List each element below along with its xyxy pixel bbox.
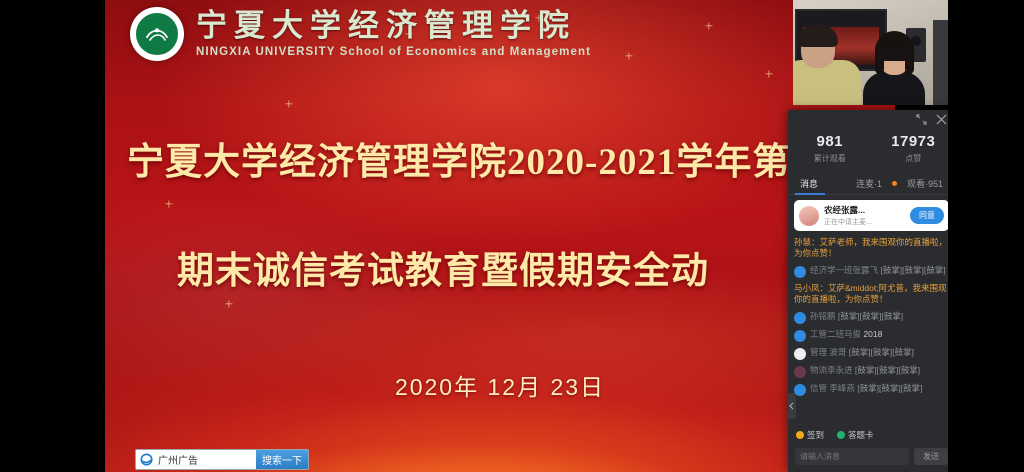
close-icon[interactable] (936, 114, 947, 125)
slide-date: 2020年 12月 23日 (105, 368, 895, 402)
stat-likes-value: 17973 (872, 133, 956, 150)
chat-message-text: [鼓掌][鼓掌][鼓掌] (880, 265, 945, 275)
chat-message: 经济学一班张露飞 [鼓掌][鼓掌][鼓掌] (794, 265, 949, 278)
chat-area[interactable]: 农经张露... 正在中请主麦... 同意 孙慧：艾萨老师，我来围观你的直播啦，为… (788, 195, 955, 423)
search-button[interactable]: 搜索一下 (256, 450, 308, 469)
live-indicator-dot (892, 181, 897, 186)
tab-messages[interactable]: 消息 (794, 177, 824, 190)
webcam-person-right-glasses (880, 50, 909, 58)
mic-request-name: 农经张露... (824, 204, 905, 216)
chat-message-author: 经济学一班张露飞 (810, 265, 878, 275)
chat-message-text: [鼓掌][鼓掌][鼓掌] (849, 347, 914, 357)
minimize-icon[interactable] (916, 114, 927, 125)
stat-views-value: 981 (788, 133, 872, 150)
university-logo: 宁夏大学经济管理学院 NINGXIA UNIVERSITY School of … (130, 7, 591, 61)
user-avatar (794, 312, 806, 324)
letterbox-right (948, 0, 1024, 472)
internet-explorer-icon (136, 450, 156, 469)
chat-message: 工管二班马俊 2018 (794, 329, 949, 342)
chat-message-text: [鼓掌][鼓掌][鼓掌] (857, 383, 922, 393)
chat-message-author: 工管二班马俊 (810, 329, 861, 339)
panel-header (788, 110, 955, 128)
quiz-card-icon (837, 431, 845, 439)
sparkle-decoration (705, 22, 712, 29)
message-list: 孙慧：艾萨老师，我来围观你的直播啦，为你点赞！ 经济学一班张露飞 [鼓掌][鼓掌… (794, 237, 949, 396)
mic-request-status: 正在中请主麦... (824, 217, 905, 227)
stat-views-label: 累计观看 (788, 153, 872, 164)
sparkle-decoration (285, 100, 292, 107)
chat-message: 管理 波哥 [鼓掌][鼓掌][鼓掌] (794, 347, 949, 360)
user-avatar (794, 366, 806, 378)
chat-message-text: 2018 (863, 329, 882, 339)
sparkle-decoration (225, 300, 232, 307)
chat-message: 孙铭鹏 [鼓掌][鼓掌][鼓掌] (794, 311, 949, 324)
user-avatar (799, 206, 819, 226)
sparkle-decoration (625, 52, 632, 59)
chat-message-author: 物流李永进 (810, 365, 853, 375)
screen: 宁夏大学经济管理学院 NINGXIA UNIVERSITY School of … (0, 0, 1024, 472)
chat-message: 孙慧：艾萨老师，我来围观你的直播啦，为你点赞！ (794, 237, 949, 260)
user-avatar (794, 266, 806, 278)
accept-mic-button[interactable]: 同意 (910, 207, 944, 224)
message-input-bar: 请输入消息 发送 (788, 445, 955, 472)
checkin-button[interactable]: 签到 (796, 429, 824, 441)
stat-likes: 17973 点赞 (872, 133, 956, 164)
chat-message: 马小凤：艾萨&middot;阿尤普，我来围观你的直播啦，为你点赞！ (794, 283, 949, 306)
user-avatar (794, 348, 806, 360)
send-button[interactable]: 发送 (914, 448, 948, 465)
message-input[interactable]: 请输入消息 (795, 448, 909, 465)
chevron-left-icon[interactable] (788, 393, 796, 419)
quiz-card-button[interactable]: 答题卡 (837, 429, 874, 441)
chat-message-author: 管理 波哥 (810, 347, 846, 357)
browser-search-bar[interactable]: 广州广告 搜索一下 (135, 449, 309, 470)
slide-title-line1: 宁夏大学经济管理学院2020-2021学年第 (127, 131, 895, 185)
logo-text-cn: 宁夏大学经济管理学院 (196, 10, 591, 41)
panel-tabs: 消息 连麦·1 观看·951 (788, 172, 955, 195)
chat-message-text: [鼓掌][鼓掌][鼓掌] (855, 365, 920, 375)
mic-request-card[interactable]: 农经张露... 正在中请主麦... 同意 (794, 200, 949, 231)
quick-actions: 签到 答题卡 (788, 423, 955, 445)
quiz-card-label: 答题卡 (848, 429, 874, 441)
chat-message-text: 孙慧：艾萨老师，我来围观你的直播啦，为你点赞！ (794, 237, 949, 260)
tab-mic-queue[interactable]: 连麦·1 (850, 177, 888, 190)
user-avatar (794, 330, 806, 342)
stat-views: 981 累计观看 (788, 133, 872, 164)
presenter-webcam[interactable] (793, 0, 948, 105)
stat-likes-label: 点赞 (872, 153, 956, 164)
chat-message-text: [鼓掌][鼓掌][鼓掌] (838, 311, 903, 321)
logo-text-en: NINGXIA UNIVERSITY School of Economics a… (196, 47, 591, 59)
stream-stats: 981 累计观看 17973 点赞 (788, 128, 955, 172)
webcam-door (933, 20, 948, 105)
sparkle-decoration (765, 70, 772, 77)
checkin-label: 签到 (807, 429, 824, 441)
webcam-person-left (793, 60, 861, 105)
chat-message: 物流李永进 [鼓掌][鼓掌][鼓掌] (794, 365, 949, 378)
search-input[interactable]: 广州广告 (156, 450, 256, 469)
webcam-person-left-hair (798, 25, 838, 47)
chat-message: 信管 李峰燕 [鼓掌][鼓掌][鼓掌] (794, 383, 949, 396)
checkin-icon (796, 431, 804, 439)
chat-message-author: 信管 李峰燕 (810, 383, 855, 393)
presentation-slide: 宁夏大学经济管理学院 NINGXIA UNIVERSITY School of … (105, 0, 895, 472)
live-chat-panel: 981 累计观看 17973 点赞 消息 连麦·1 观看·951 农经张露...… (788, 110, 955, 472)
chat-message-text: 马小凤：艾萨&middot;阿尤普，我来围观你的直播啦，为你点赞！ (794, 283, 949, 306)
chat-message-author: 孙铭鹏 (810, 311, 836, 321)
university-crest-icon (130, 7, 184, 61)
sparkle-decoration (165, 200, 172, 207)
tab-viewers[interactable]: 观看·951 (901, 177, 949, 190)
